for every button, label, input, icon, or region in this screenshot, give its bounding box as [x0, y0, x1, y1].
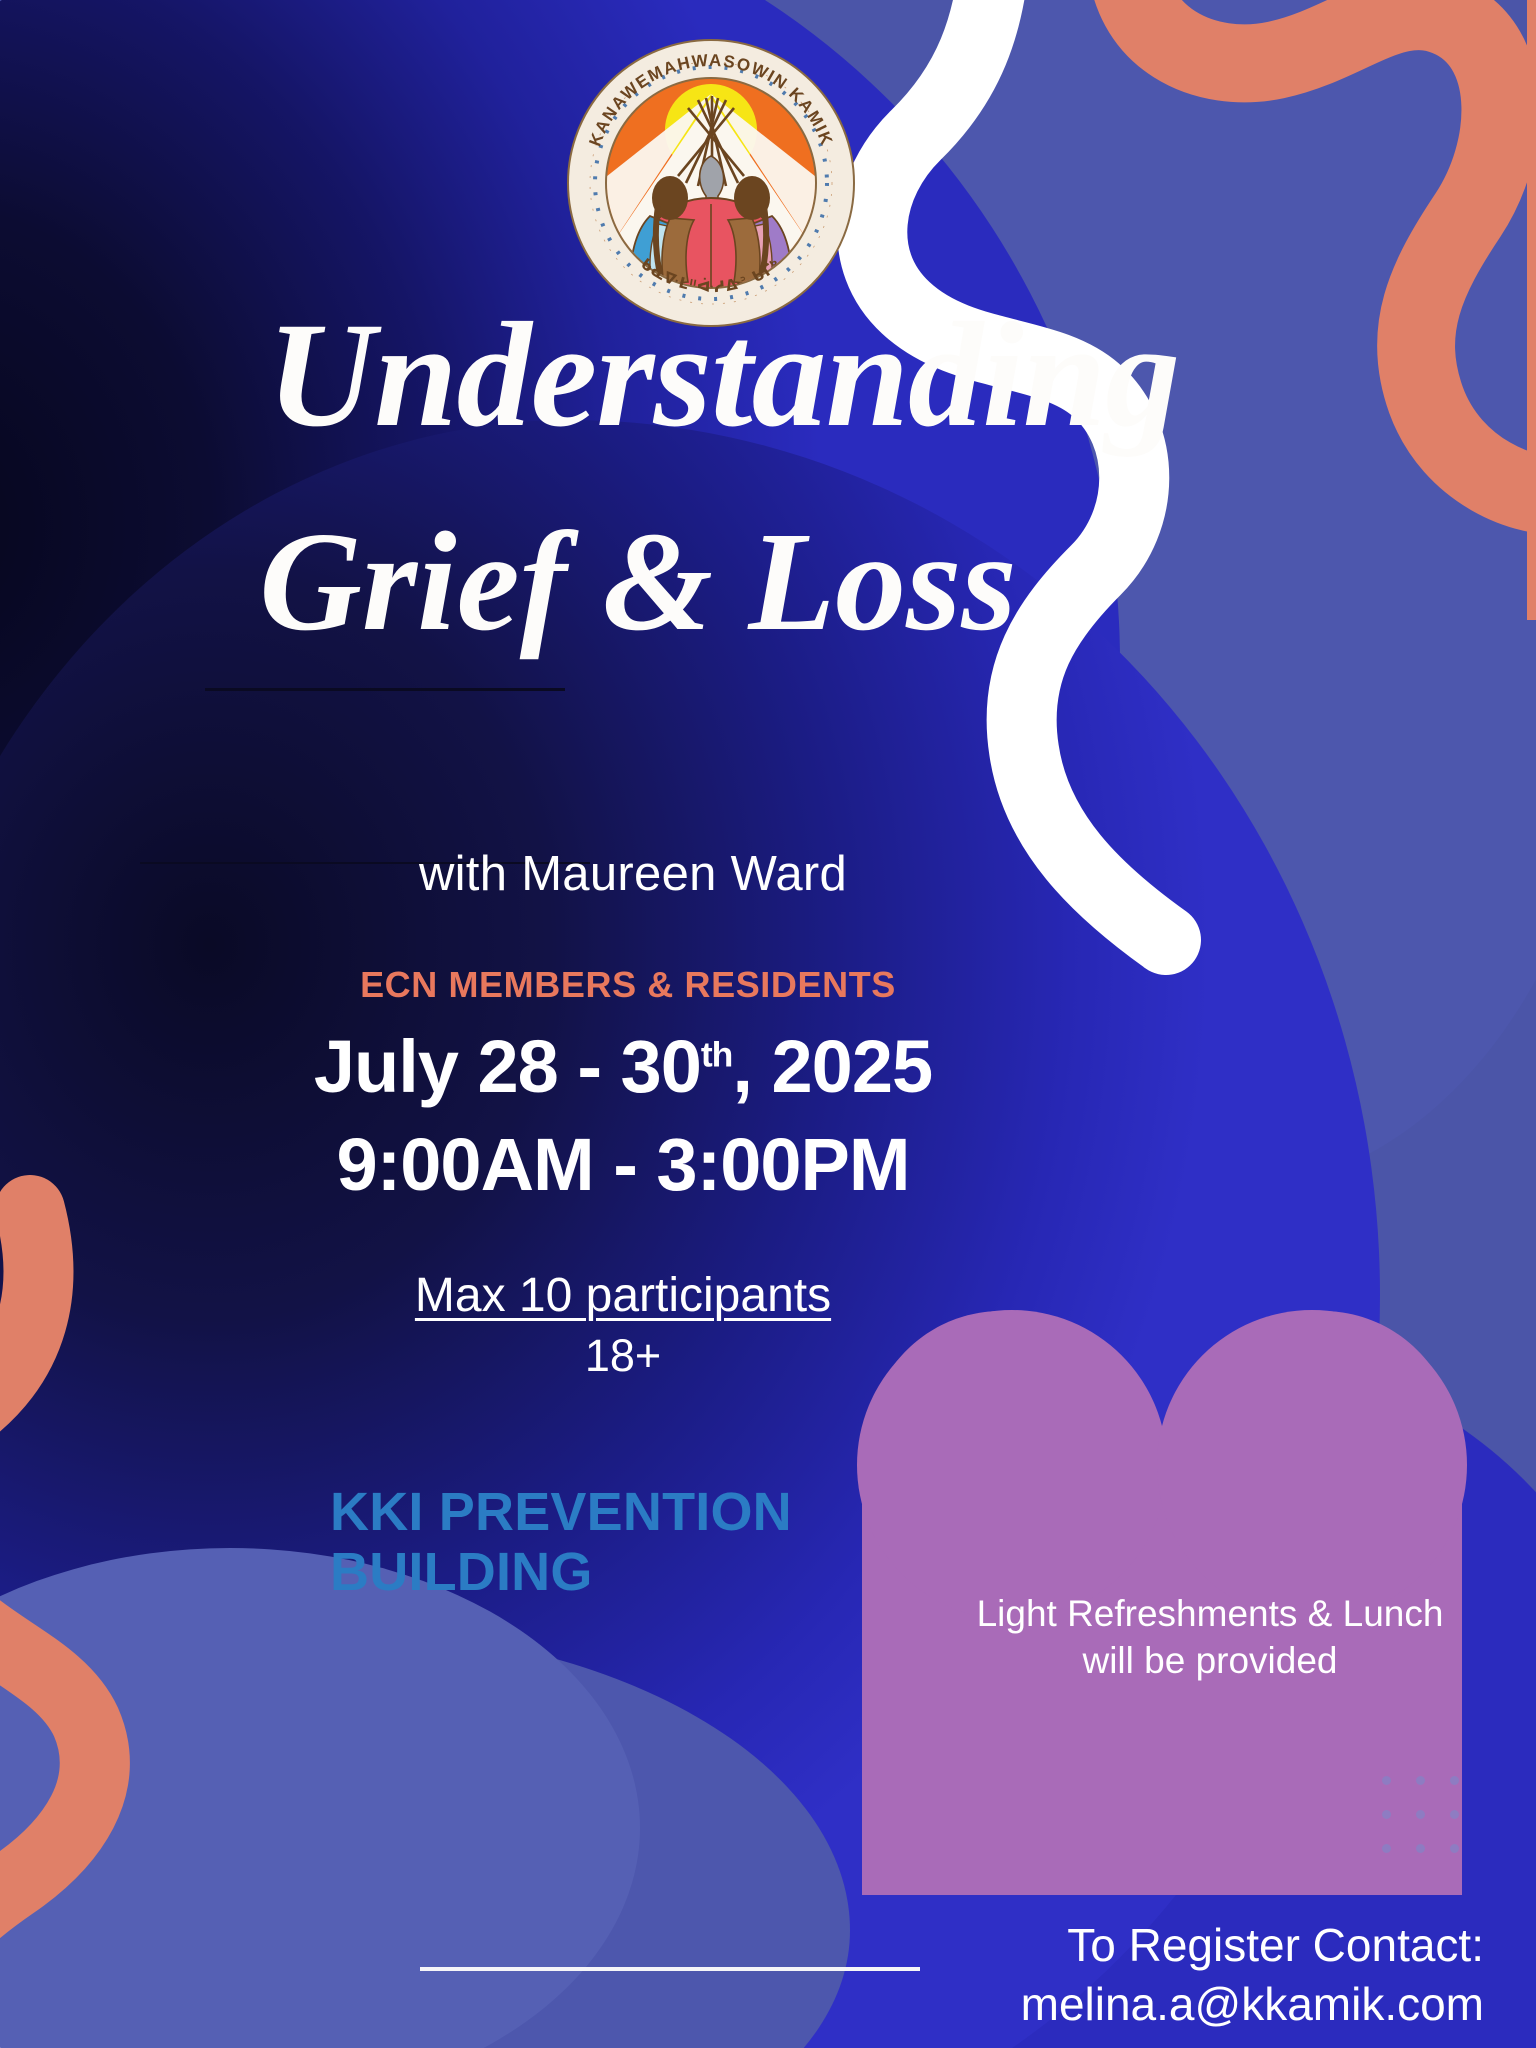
max-participants: Max 10 participants: [0, 1268, 1536, 1323]
event-date-suffix: , 2025: [732, 1025, 932, 1108]
register-email[interactable]: melina.a@kkamik.com: [1021, 1975, 1484, 2034]
event-date: July 28 - 30th, 2025: [0, 1024, 1536, 1109]
event-date-prefix: July 28 - 30: [314, 1025, 701, 1108]
event-date-ordinal: th: [701, 1034, 733, 1074]
audience-label: ECN MEMBERS & RESIDENTS: [0, 964, 1536, 1006]
poster-canvas: KANAWEMAHWASOWIN KAMIK ᑲᓇᐍᒪᐦᐚᓱᐏᐣ ᑲᒥᒃ Und…: [0, 0, 1536, 2048]
poster-title-line-2: Grief & Loss: [0, 510, 1536, 652]
event-time: 9:00AM - 3:00PM: [0, 1122, 1536, 1207]
refreshments-note: Light Refreshments & Lunch will be provi…: [930, 1590, 1490, 1685]
poster-title-line-1: Understanding: [0, 300, 1536, 450]
title-divider-rule: [205, 688, 565, 691]
refreshments-line-1: Light Refreshments & Lunch: [930, 1590, 1490, 1637]
age-limit: 18+: [0, 1330, 1536, 1382]
venue-line-1: KKI PREVENTION: [330, 1482, 930, 1542]
footer-divider-rule: [420, 1967, 920, 1971]
presenter-name: with Maureen Ward: [0, 846, 1536, 902]
venue-line-2: BUILDING: [330, 1542, 930, 1602]
poster-content: Understanding Grief & Loss with Maureen …: [0, 0, 1536, 2048]
register-label: To Register Contact:: [1021, 1916, 1484, 1975]
max-participants-text: Max 10 participants: [415, 1269, 831, 1322]
registration-contact: To Register Contact: melina.a@kkamik.com: [1021, 1916, 1484, 2034]
refreshments-line-2: will be provided: [930, 1637, 1490, 1684]
venue-name: KKI PREVENTION BUILDING: [330, 1482, 930, 1603]
